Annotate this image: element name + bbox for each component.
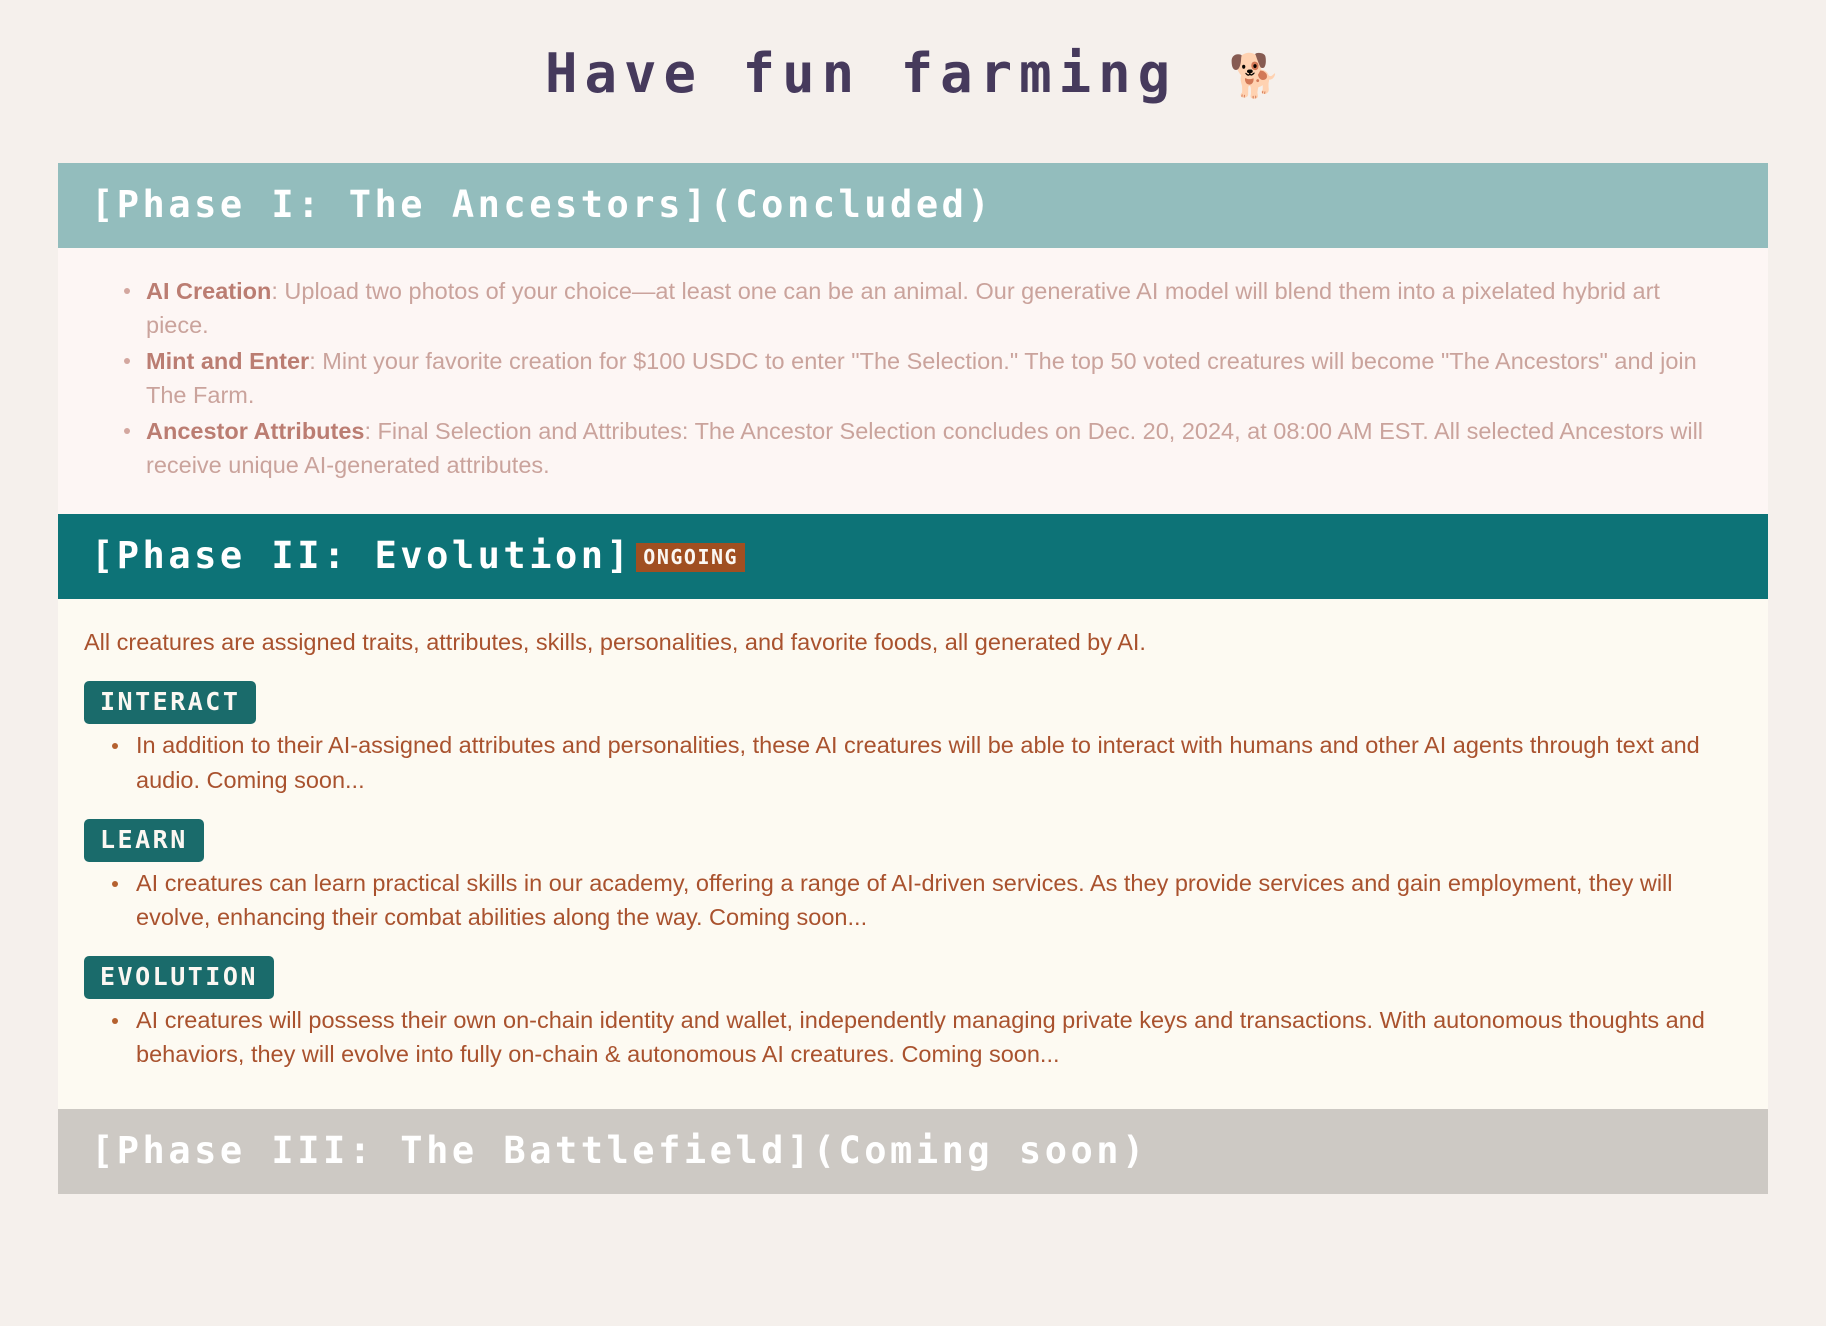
bullet-text: : Upload two photos of your choice—at le… (146, 278, 1660, 338)
page-title: Have fun farming 🐕 (0, 0, 1826, 105)
status-badge-ongoing: ONGOING (636, 543, 745, 572)
bullet-text: : Final Selection and Attributes: The An… (146, 418, 1703, 478)
phase-header-phase-3[interactable]: [Phase III: The Battlefield](Coming soon… (58, 1109, 1768, 1194)
evolution-bullet-list: AI creatures will possess their own on-c… (84, 1003, 1742, 1071)
list-item: In addition to their AI-assigned attribu… (84, 728, 1742, 796)
learn-bullet-list: AI creatures can learn practical skills … (84, 866, 1742, 934)
list-item: Mint and Enter: Mint your favorite creat… (98, 344, 1728, 412)
tag-evolution: EVOLUTION (84, 956, 274, 999)
phase-1-header-label: [Phase I: The Ancestors](Concluded) (91, 183, 993, 226)
roadmap: [Phase I: The Ancestors](Concluded) AI C… (58, 105, 1768, 1194)
phase-2-body: All creatures are assigned traits, attri… (58, 599, 1768, 1108)
list-item: AI creatures will possess their own on-c… (84, 1003, 1742, 1071)
phase-1-body: AI Creation: Upload two photos of your c… (58, 248, 1768, 514)
tag-learn: LEARN (84, 819, 204, 862)
phase-1-bullet-list: AI Creation: Upload two photos of your c… (98, 274, 1728, 482)
interact-bullet-list: In addition to their AI-assigned attribu… (84, 728, 1742, 796)
list-item: AI Creation: Upload two photos of your c… (98, 274, 1728, 342)
list-item: Ancestor Attributes: Final Selection and… (98, 414, 1728, 482)
bullet-text: : Mint your favorite creation for $100 U… (146, 348, 1697, 408)
phase-header-phase-2[interactable]: [Phase II: Evolution] ONGOING (58, 514, 1768, 599)
bullet-lead: Mint and Enter (146, 348, 309, 374)
phase-3-header-label: [Phase III: The Battlefield](Coming soon… (91, 1129, 1148, 1172)
section-learn: LEARN AI creatures can learn practical s… (84, 819, 1742, 934)
list-item: AI creatures can learn practical skills … (84, 866, 1742, 934)
page-title-text: Have fun farming (545, 42, 1177, 105)
bullet-lead: AI Creation (146, 278, 271, 304)
bullet-lead: Ancestor Attributes (146, 418, 365, 444)
phase-header-phase-1[interactable]: [Phase I: The Ancestors](Concluded) (58, 163, 1768, 248)
dog-emoji: 🐕 (1229, 51, 1281, 100)
section-interact: INTERACT In addition to their AI-assigne… (84, 681, 1742, 796)
phase-2-intro: All creatures are assigned traits, attri… (84, 625, 1742, 659)
section-evolution: EVOLUTION AI creatures will possess thei… (84, 956, 1742, 1071)
phase-2-header-label: [Phase II: Evolution] (91, 534, 632, 577)
tag-interact: INTERACT (84, 681, 256, 724)
